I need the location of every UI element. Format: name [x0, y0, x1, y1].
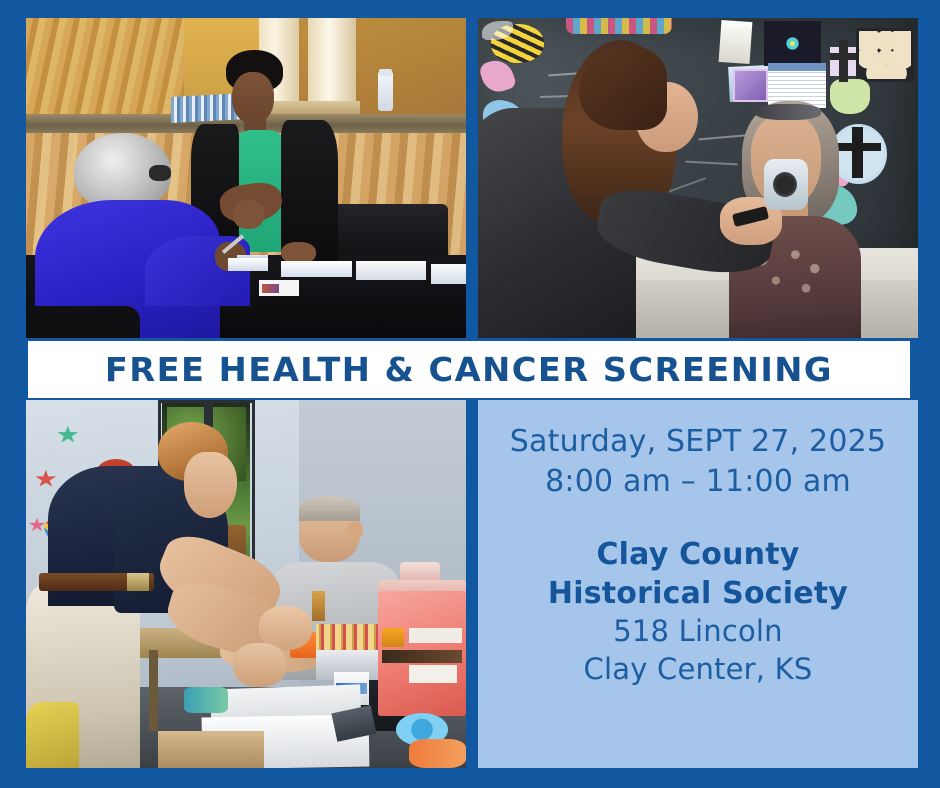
title-banner: FREE HEALTH & CANCER SCREENING: [28, 341, 910, 398]
photo-circle-cross-horizontal: [837, 143, 881, 151]
photo-presenter-hand: [233, 200, 264, 229]
venue-name-line-2: Historical Society: [548, 574, 848, 613]
photo-water-bottle: [378, 72, 393, 110]
photo-column-right: [308, 18, 356, 108]
photo-sharps-label-band: [382, 650, 461, 663]
photo-volunteer-hand-2: [233, 643, 286, 687]
photo-brochure-card-image: [262, 284, 280, 294]
photo-cross-horizontal: [830, 53, 856, 59]
photo-paper-2: [281, 261, 351, 277]
photo-foreground-chair: [26, 306, 140, 338]
photo-paper-chain: [566, 18, 672, 34]
photo-sharps-label-2: [409, 665, 457, 683]
photo-purple-framed-art: [733, 69, 768, 102]
photo-circle-cross-vertical: [852, 127, 863, 178]
photo-fireworks-artwork: [764, 21, 821, 66]
photo-posted-note-1: [719, 20, 753, 64]
photo-paper-1: [228, 258, 268, 271]
photo-side-table-leg: [149, 650, 158, 731]
photo-patient-hair: [299, 496, 361, 522]
venue-street-address: 518 Lincoln: [613, 613, 783, 651]
photo-skin-cancer-screening: [478, 18, 918, 338]
photo-clinician-hair-front: [579, 47, 667, 130]
event-date: Saturday, SEPT 27, 2025: [510, 422, 886, 462]
photo-volunteer-belt-buckle: [127, 573, 149, 591]
event-time: 8:00 am – 11:00 am: [545, 462, 851, 502]
photo-paper-3: [356, 261, 426, 280]
photo-cross-vertical: [839, 40, 848, 82]
photo-biohazard-label: [382, 628, 404, 646]
event-details-panel: Saturday, SEPT 27, 2025 8:00 am – 11:00 …: [478, 400, 918, 768]
photo-cardboard-box: [158, 731, 264, 768]
venue-name-line-1: Clay County: [596, 535, 799, 574]
venue-city-state: Clay Center, KS: [584, 651, 813, 689]
photo-gloves: [409, 739, 466, 768]
photo-bottle-cap: [379, 69, 392, 76]
photo-paper-4: [431, 264, 466, 283]
page-title: FREE HEALTH & CANCER SCREENING: [105, 353, 833, 386]
photo-health-fair-consultation: [26, 18, 466, 338]
event-flyer: FREE HEALTH & CANCER SCREENING Saturday,…: [0, 0, 940, 788]
photo-attendee-glasses: [149, 165, 171, 181]
photo-patient-ear: [347, 521, 362, 539]
photo-poster-circles: [859, 31, 912, 79]
photo-calendar-header: [768, 63, 825, 71]
photo-sharps-label-1: [409, 628, 462, 643]
photo-blood-draw-screening: [26, 400, 466, 768]
photo-toy-item: [184, 687, 228, 713]
photo-patient-sunglasses: [755, 104, 821, 120]
photo-handprint-art: [830, 79, 870, 114]
photo-ride-on-toy: [26, 702, 79, 768]
photo-patient-badge: [312, 591, 325, 620]
